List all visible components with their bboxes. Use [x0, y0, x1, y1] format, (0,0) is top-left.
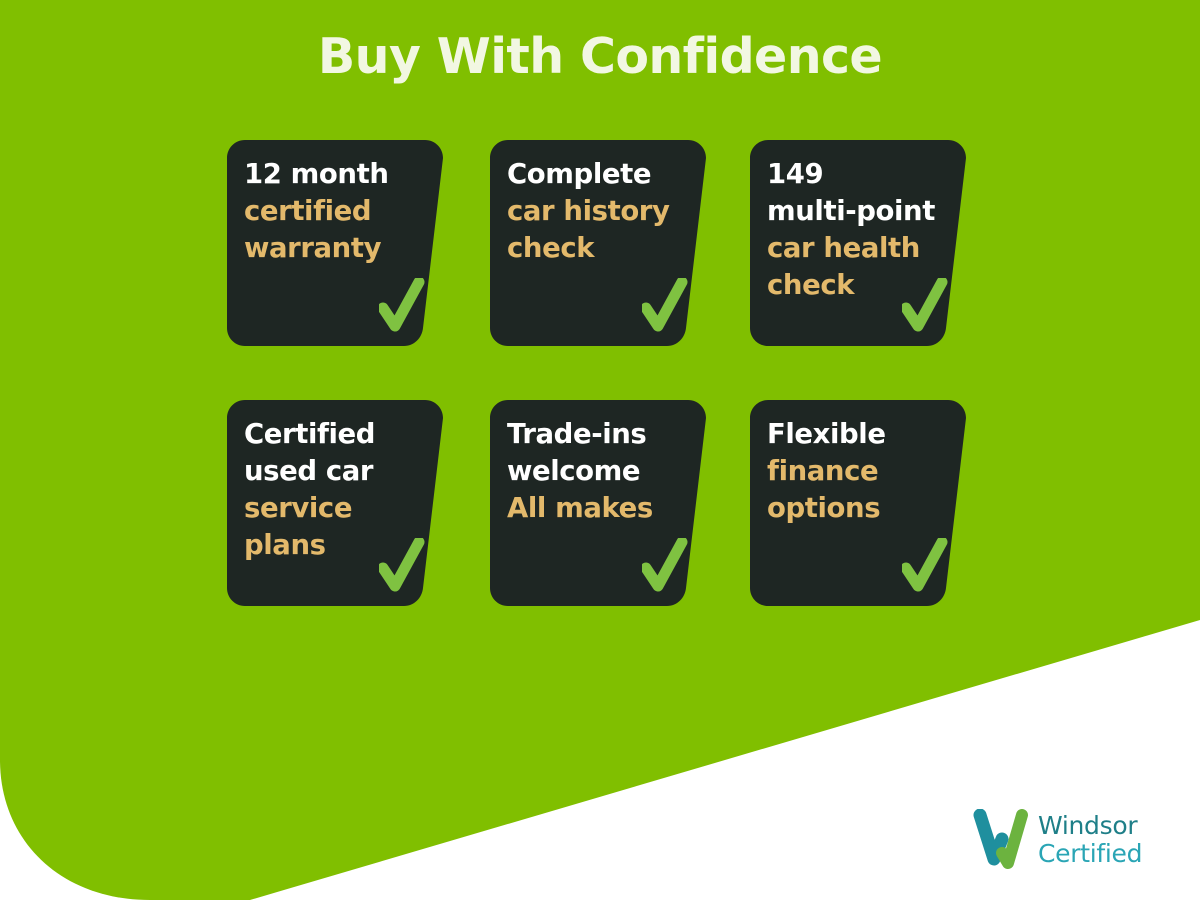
brand-name-line-2: Certified	[1038, 840, 1142, 868]
benefit-card-car-health-check[interactable]: 149 multi-point car health check	[750, 140, 976, 346]
promo-graphic: Buy With Confidence 12 month certified w…	[0, 0, 1200, 900]
brand-name-line-1: Windsor	[1038, 812, 1142, 840]
benefit-card-service-plans[interactable]: Certified used car service plans	[227, 400, 453, 606]
card-line: warranty	[244, 230, 440, 267]
brand-logo-wordmark: Windsor Certified	[1038, 812, 1142, 868]
card-line: 149	[767, 156, 963, 193]
card-line: welcome	[507, 453, 703, 490]
card-line: finance	[767, 453, 963, 490]
green-check-icon	[379, 278, 425, 334]
card-line: car health	[767, 230, 963, 267]
benefit-card-text: Trade-ins welcome All makes	[507, 416, 703, 527]
green-check-icon	[379, 538, 425, 594]
green-check-icon	[902, 538, 948, 594]
page-title: Buy With Confidence	[0, 26, 1200, 88]
card-line: 12 month	[244, 156, 440, 193]
green-check-icon	[642, 538, 688, 594]
card-line: service	[244, 490, 440, 527]
card-line: Complete	[507, 156, 703, 193]
brand-logo[interactable]: Windsor Certified	[972, 806, 1158, 874]
green-check-icon	[902, 278, 948, 334]
benefit-card-text: 12 month certified warranty	[244, 156, 440, 267]
card-line: certified	[244, 193, 440, 230]
card-line: used car	[244, 453, 440, 490]
card-line: car history	[507, 193, 703, 230]
card-line: Certified	[244, 416, 440, 453]
benefit-card-trade-ins[interactable]: Trade-ins welcome All makes	[490, 400, 716, 606]
card-line: multi-point	[767, 193, 963, 230]
benefit-card-finance-options[interactable]: Flexible finance options	[750, 400, 976, 606]
windsor-w-icon	[972, 809, 1030, 871]
benefit-card-text: Complete car history check	[507, 156, 703, 267]
green-check-icon	[642, 278, 688, 334]
card-line: All makes	[507, 490, 703, 527]
card-line: Flexible	[767, 416, 963, 453]
benefit-card-grid: 12 month certified warranty Complete car…	[0, 0, 1200, 900]
benefit-card-certified-warranty[interactable]: 12 month certified warranty	[227, 140, 453, 346]
card-line: check	[507, 230, 703, 267]
benefit-card-text: Flexible finance options	[767, 416, 963, 527]
benefit-card-car-history-check[interactable]: Complete car history check	[490, 140, 716, 346]
card-line: Trade-ins	[507, 416, 703, 453]
card-line: options	[767, 490, 963, 527]
